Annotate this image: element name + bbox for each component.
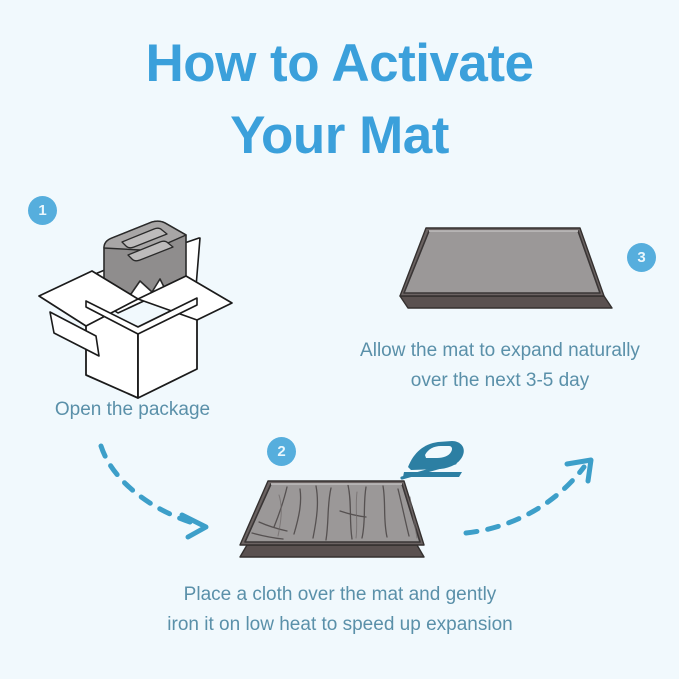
iron-icon — [402, 441, 464, 478]
step-1-caption: Open the package — [0, 395, 265, 425]
step-badge-3: 3 — [627, 243, 656, 272]
infographic-canvas: How to Activate Your Mat — [0, 0, 679, 679]
step-2-caption: Place a cloth over the mat and gently ir… — [120, 580, 560, 640]
step-3-caption-line-2: over the next 3-5 day — [320, 366, 679, 396]
step-3-caption-line-1: Allow the mat to expand naturally — [320, 336, 679, 366]
wrinkled-mat-icon — [240, 481, 424, 557]
title-line-1: How to Activate — [0, 28, 679, 100]
title-line-2: Your Mat — [0, 100, 679, 172]
step-badge-2: 2 — [267, 437, 296, 466]
step-2-caption-line-1: Place a cloth over the mat and gently — [120, 580, 560, 610]
arrow-step2-to-step3 — [466, 460, 591, 533]
step-badge-1: 1 — [28, 196, 57, 225]
flat-mat-icon — [400, 228, 612, 308]
step-3-caption: Allow the mat to expand naturally over t… — [320, 336, 679, 396]
box-package-icon — [39, 221, 232, 398]
step-1-caption-line: Open the package — [55, 399, 210, 420]
step-2-caption-line-2: iron it on low heat to speed up expansio… — [120, 610, 560, 640]
arrow-step1-to-step2 — [101, 446, 206, 537]
page-title: How to Activate Your Mat — [0, 28, 679, 172]
